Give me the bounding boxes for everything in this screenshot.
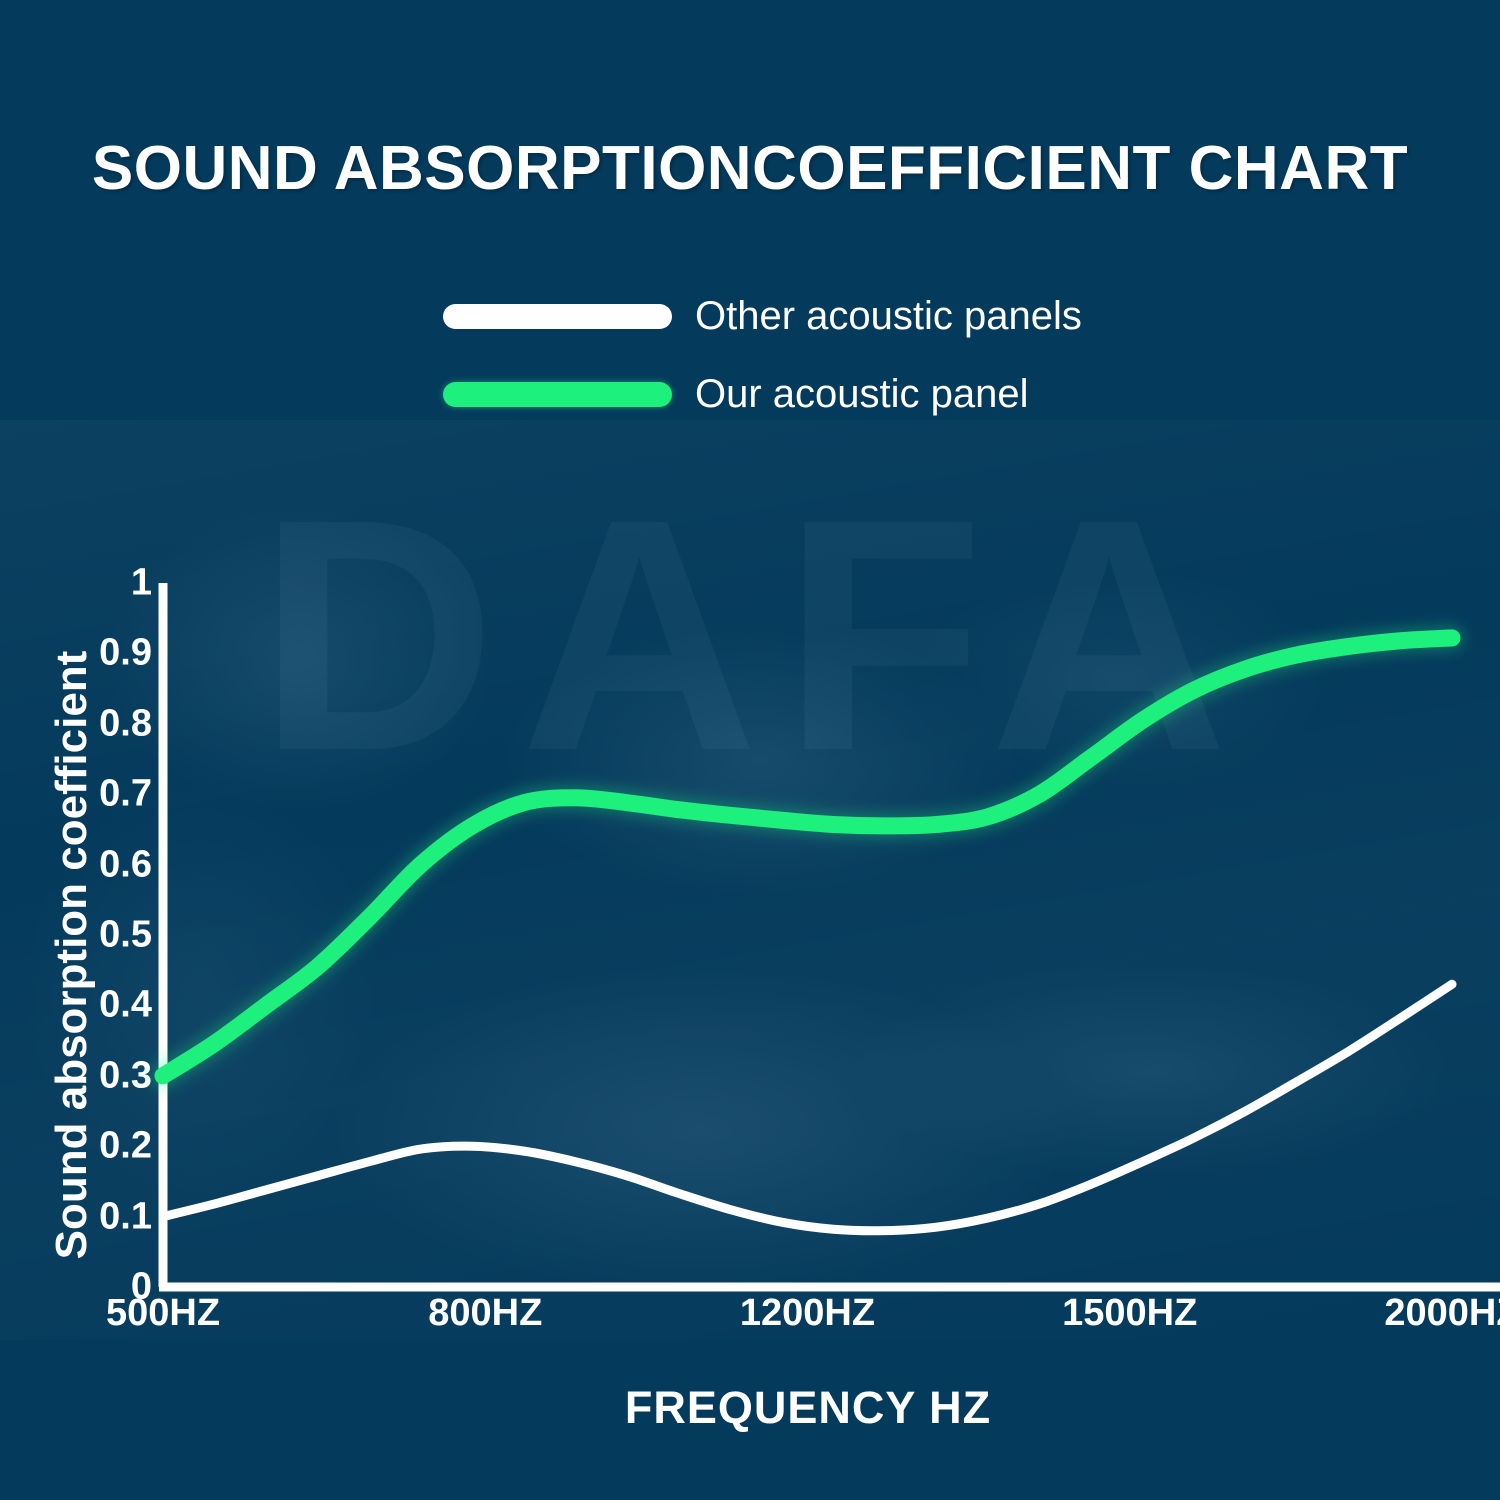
chart-series [163,638,1452,1231]
chart-canvas [0,0,1500,1500]
chart-page: DAFA SOUND ABSORPTIONCOEFFICIENT CHART O… [0,0,1500,1500]
series-line-our-panel [163,638,1452,1076]
series-line-other-panels [163,984,1452,1231]
series-glow-0 [163,638,1452,1076]
plot-area: Sound absorption coefficient FREQUENCY H… [0,0,1500,1500]
